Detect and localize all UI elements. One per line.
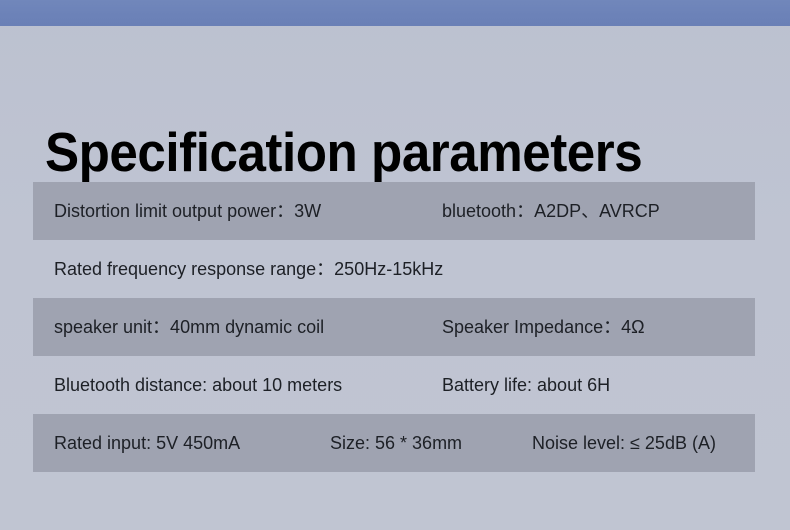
spec-item-size: Size: 56 * 36mm	[330, 432, 462, 454]
spec-row: speaker unit：40mm dynamic coil Speaker I…	[33, 298, 755, 356]
spec-item-rated-input: Rated input: 5V 450mA	[54, 432, 240, 454]
spec-item-distortion-limit-output-power: Distortion limit output power：3W	[54, 200, 321, 222]
page-title: Specification parameters	[45, 119, 642, 185]
spec-item-speaker-impedance: Speaker Impedance：4Ω	[442, 316, 645, 338]
spec-row: Rated frequency response range：250Hz-15k…	[33, 240, 755, 298]
spec-item-noise-level: Noise level: ≤ 25dB (A)	[532, 432, 716, 454]
spec-item-bluetooth-profiles: bluetooth：A2DP、AVRCP	[442, 200, 660, 222]
specification-table: Distortion limit output power：3W bluetoo…	[33, 182, 755, 472]
spec-row: Bluetooth distance: about 10 meters Batt…	[33, 356, 755, 414]
spec-row: Distortion limit output power：3W bluetoo…	[33, 182, 755, 240]
specification-page: Specification parameters Distortion limi…	[0, 0, 790, 530]
spec-item-battery-life: Battery life: about 6H	[442, 374, 610, 396]
spec-row: Rated input: 5V 450mA Size: 56 * 36mm No…	[33, 414, 755, 472]
spec-item-bluetooth-distance: Bluetooth distance: about 10 meters	[54, 374, 342, 396]
spec-item-rated-frequency-response-range: Rated frequency response range：250Hz-15k…	[54, 258, 443, 280]
top-color-band	[0, 0, 790, 26]
spec-item-speaker-unit: speaker unit：40mm dynamic coil	[54, 316, 324, 338]
